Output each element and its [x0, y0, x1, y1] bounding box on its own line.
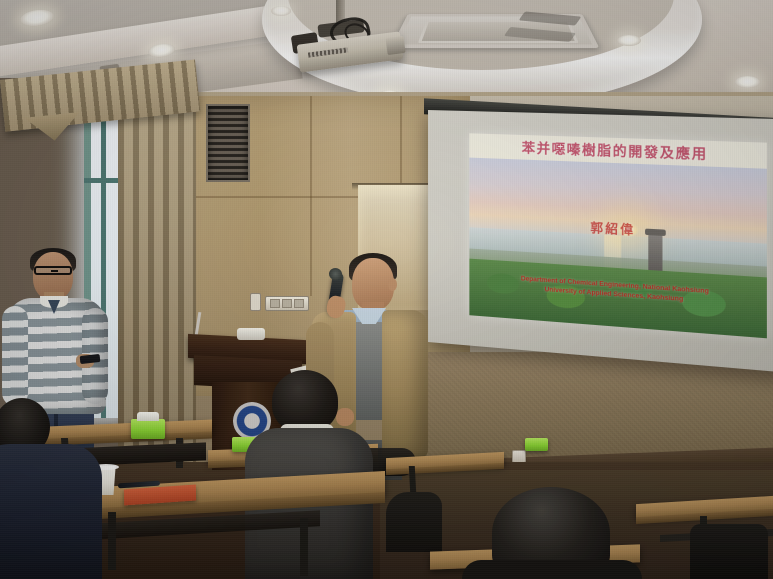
- audience-shoulder-right: [386, 492, 442, 552]
- presentation-slide: 苯并噁嗪樹脂的開發及應用 郭紹偉 Department of Chemical …: [469, 133, 767, 338]
- projection-screen: 苯并噁嗪樹脂的開發及應用 郭紹偉 Department of Chemical …: [428, 110, 773, 373]
- switch-rocker[interactable]: [294, 299, 304, 308]
- desk-leg: [300, 518, 308, 576]
- man-left-arm-left: [2, 306, 28, 406]
- lecture-room-photo: 苯并噁嗪樹脂的開發及應用 郭紹偉 Department of Chemical …: [0, 0, 773, 579]
- ceiling-light-icon: [617, 35, 641, 46]
- speaker-hand-right: [336, 408, 354, 426]
- tissue-sheet: [137, 412, 159, 421]
- light-switch-icon[interactable]: [250, 293, 261, 311]
- speaker-ear: [388, 278, 397, 291]
- desk-leg: [108, 512, 116, 570]
- lectern-cup: [237, 328, 265, 340]
- wall-grille-icon: [206, 104, 250, 182]
- tissue-box: [525, 438, 548, 451]
- eyeglasses-icon: [34, 266, 72, 275]
- tissue-box: [131, 419, 165, 439]
- speaker-blazer-right: [382, 310, 428, 458]
- audience-right-shoulders: [462, 560, 642, 579]
- ceiling-light-icon: [271, 6, 291, 16]
- slide-background-photo: [469, 158, 767, 339]
- audience-center-head: [272, 370, 338, 432]
- ceiling-light-icon: [735, 76, 760, 88]
- light-switch-plate[interactable]: [265, 296, 309, 311]
- audience-left-jacket: [0, 444, 102, 579]
- switch-rocker[interactable]: [270, 299, 280, 308]
- switch-rocker[interactable]: [282, 299, 292, 308]
- chair: [690, 524, 768, 579]
